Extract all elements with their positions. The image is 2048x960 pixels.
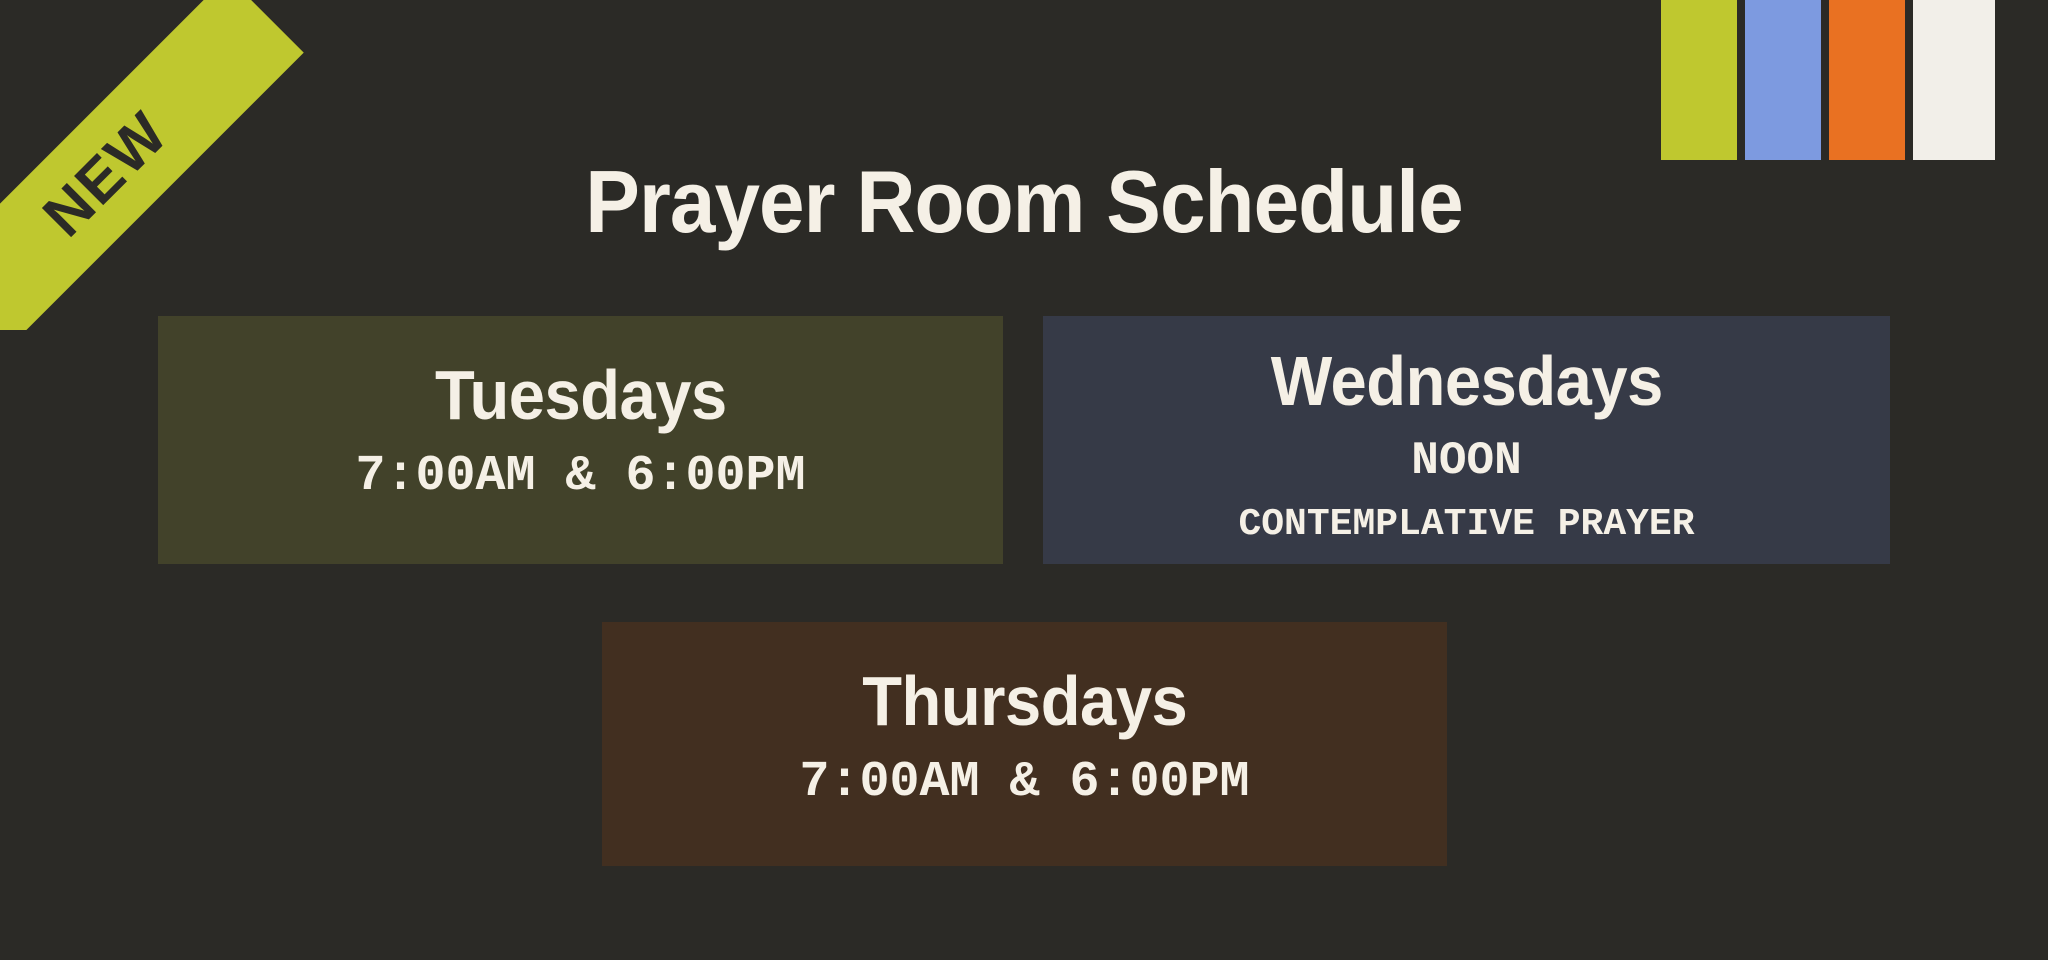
schedule-card-wednesdays: Wednesdays NOON CONTEMPLATIVE PRAYER xyxy=(1043,316,1890,564)
color-bar-group xyxy=(1661,0,1995,160)
color-bar-lime xyxy=(1661,0,1737,160)
schedule-card-tuesdays: Tuesdays 7:00AM & 6:00PM xyxy=(158,316,1003,564)
page-title: Prayer Room Schedule xyxy=(72,158,1977,246)
color-bar-cream xyxy=(1913,0,1995,160)
schedule-card-thursdays: Thursdays 7:00AM & 6:00PM xyxy=(602,622,1447,866)
card-day-name: Tuesdays xyxy=(435,360,727,430)
card-day-description: CONTEMPLATIVE PRAYER xyxy=(1238,506,1694,544)
card-day-time: NOON xyxy=(1411,438,1521,484)
card-day-name: Thursdays xyxy=(862,666,1187,736)
prayer-room-schedule-poster: NEW Prayer Room Schedule Tuesdays 7:00AM… xyxy=(0,0,2048,960)
color-bar-orange xyxy=(1829,0,1905,160)
card-day-times: 7:00AM & 6:00PM xyxy=(799,758,1249,808)
color-bar-periwinkle xyxy=(1745,0,1821,160)
card-day-name: Wednesdays xyxy=(1270,346,1662,416)
card-day-times: 7:00AM & 6:00PM xyxy=(355,452,805,502)
